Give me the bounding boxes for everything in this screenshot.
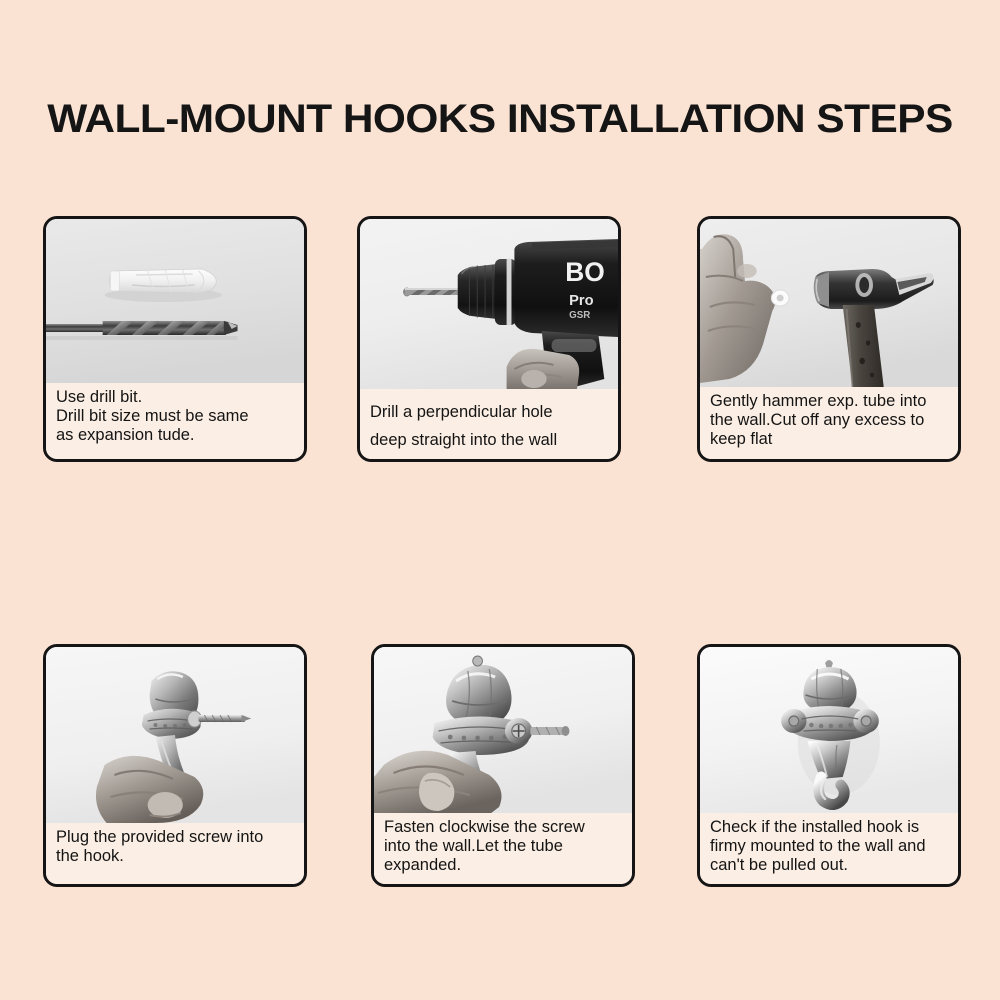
step-caption-1: Use drill bit. Drill bit size must be sa… — [46, 383, 304, 459]
page-title: WALL-MOUNT HOOKS INSTALLATION STEPS — [0, 96, 1000, 142]
drill-brand-label: BO — [565, 257, 605, 287]
step-panel-3: Gently hammer exp. tube into the wall.Cu… — [697, 216, 961, 462]
step-panel-1: Use drill bit. Drill bit size must be sa… — [43, 216, 307, 462]
infographic-sheet: WALL-MOUNT HOOKS INSTALLATION STEPS — [0, 0, 1000, 1000]
drill-bit-and-expansion-plug-photo — [46, 219, 304, 383]
fastening-hook-to-wall-photo — [374, 647, 632, 813]
hand-with-plug-and-hammer-photo — [700, 219, 958, 387]
step-caption-6: Check if the installed hook is firmy mou… — [700, 813, 958, 884]
step-panel-2: BO Pro GSR Drill a perpendicular hole de… — [357, 216, 621, 462]
step-panel-5: Fasten clockwise the screw into the wall… — [371, 644, 635, 887]
step-caption-2: Drill a perpendicular hole deep straight… — [360, 389, 618, 459]
drill-line3-label: GSR — [569, 310, 590, 321]
step-caption-4: Plug the provided screw into the hook. — [46, 823, 304, 884]
hand-holding-hook-with-screw-photo — [46, 647, 304, 823]
step-panel-4: Plug the provided screw into the hook. — [43, 644, 307, 887]
step-caption-3: Gently hammer exp. tube into the wall.Cu… — [700, 387, 958, 459]
step-panel-6: Check if the installed hook is firmy mou… — [697, 644, 961, 887]
drill-line2-label: Pro — [569, 293, 593, 309]
installed-hook-on-wall-photo — [700, 647, 958, 813]
step-caption-5: Fasten clockwise the screw into the wall… — [374, 813, 632, 884]
cordless-drill-into-wall-photo: BO Pro GSR — [360, 219, 618, 389]
